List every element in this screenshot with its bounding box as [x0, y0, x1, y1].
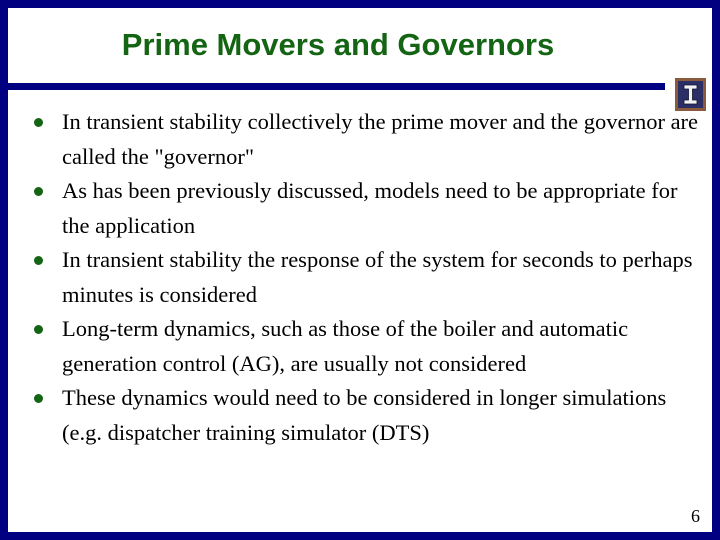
block-i-glyph — [678, 81, 703, 108]
list-item: Long-term dynamics, such as those of the… — [26, 312, 702, 381]
bullet-text: Long-term dynamics, such as those of the… — [62, 312, 702, 381]
presentation-slide: Prime Movers and Governors In transient … — [0, 0, 720, 540]
bullet-list: In transient stability collectively the … — [26, 105, 702, 450]
list-item: These dynamics would need to be consider… — [26, 381, 702, 450]
list-item: In transient stability the response of t… — [26, 243, 702, 312]
bullet-dot-icon — [34, 187, 43, 196]
bullet-dot-icon — [34, 118, 43, 127]
bullet-dot-icon — [34, 394, 43, 403]
list-item: As has been previously discussed, models… — [26, 174, 702, 243]
slide-title: Prime Movers and Governors — [8, 26, 668, 64]
bullet-text: These dynamics would need to be consider… — [62, 381, 702, 450]
bullet-text: In transient stability the response of t… — [62, 243, 702, 312]
bullet-text: As has been previously discussed, models… — [62, 174, 702, 243]
slide-body: In transient stability collectively the … — [26, 105, 702, 450]
list-item: In transient stability collectively the … — [26, 105, 702, 174]
slide-border-bottom — [0, 532, 720, 540]
bullet-text: In transient stability collectively the … — [62, 105, 702, 174]
bullet-dot-icon — [34, 256, 43, 265]
bullet-dot-icon — [34, 325, 43, 334]
slide-border-top — [0, 0, 720, 8]
page-number: 6 — [691, 506, 700, 526]
slide-border-right — [712, 0, 720, 540]
slide-border-left — [0, 0, 8, 540]
title-divider-rule — [8, 83, 665, 90]
